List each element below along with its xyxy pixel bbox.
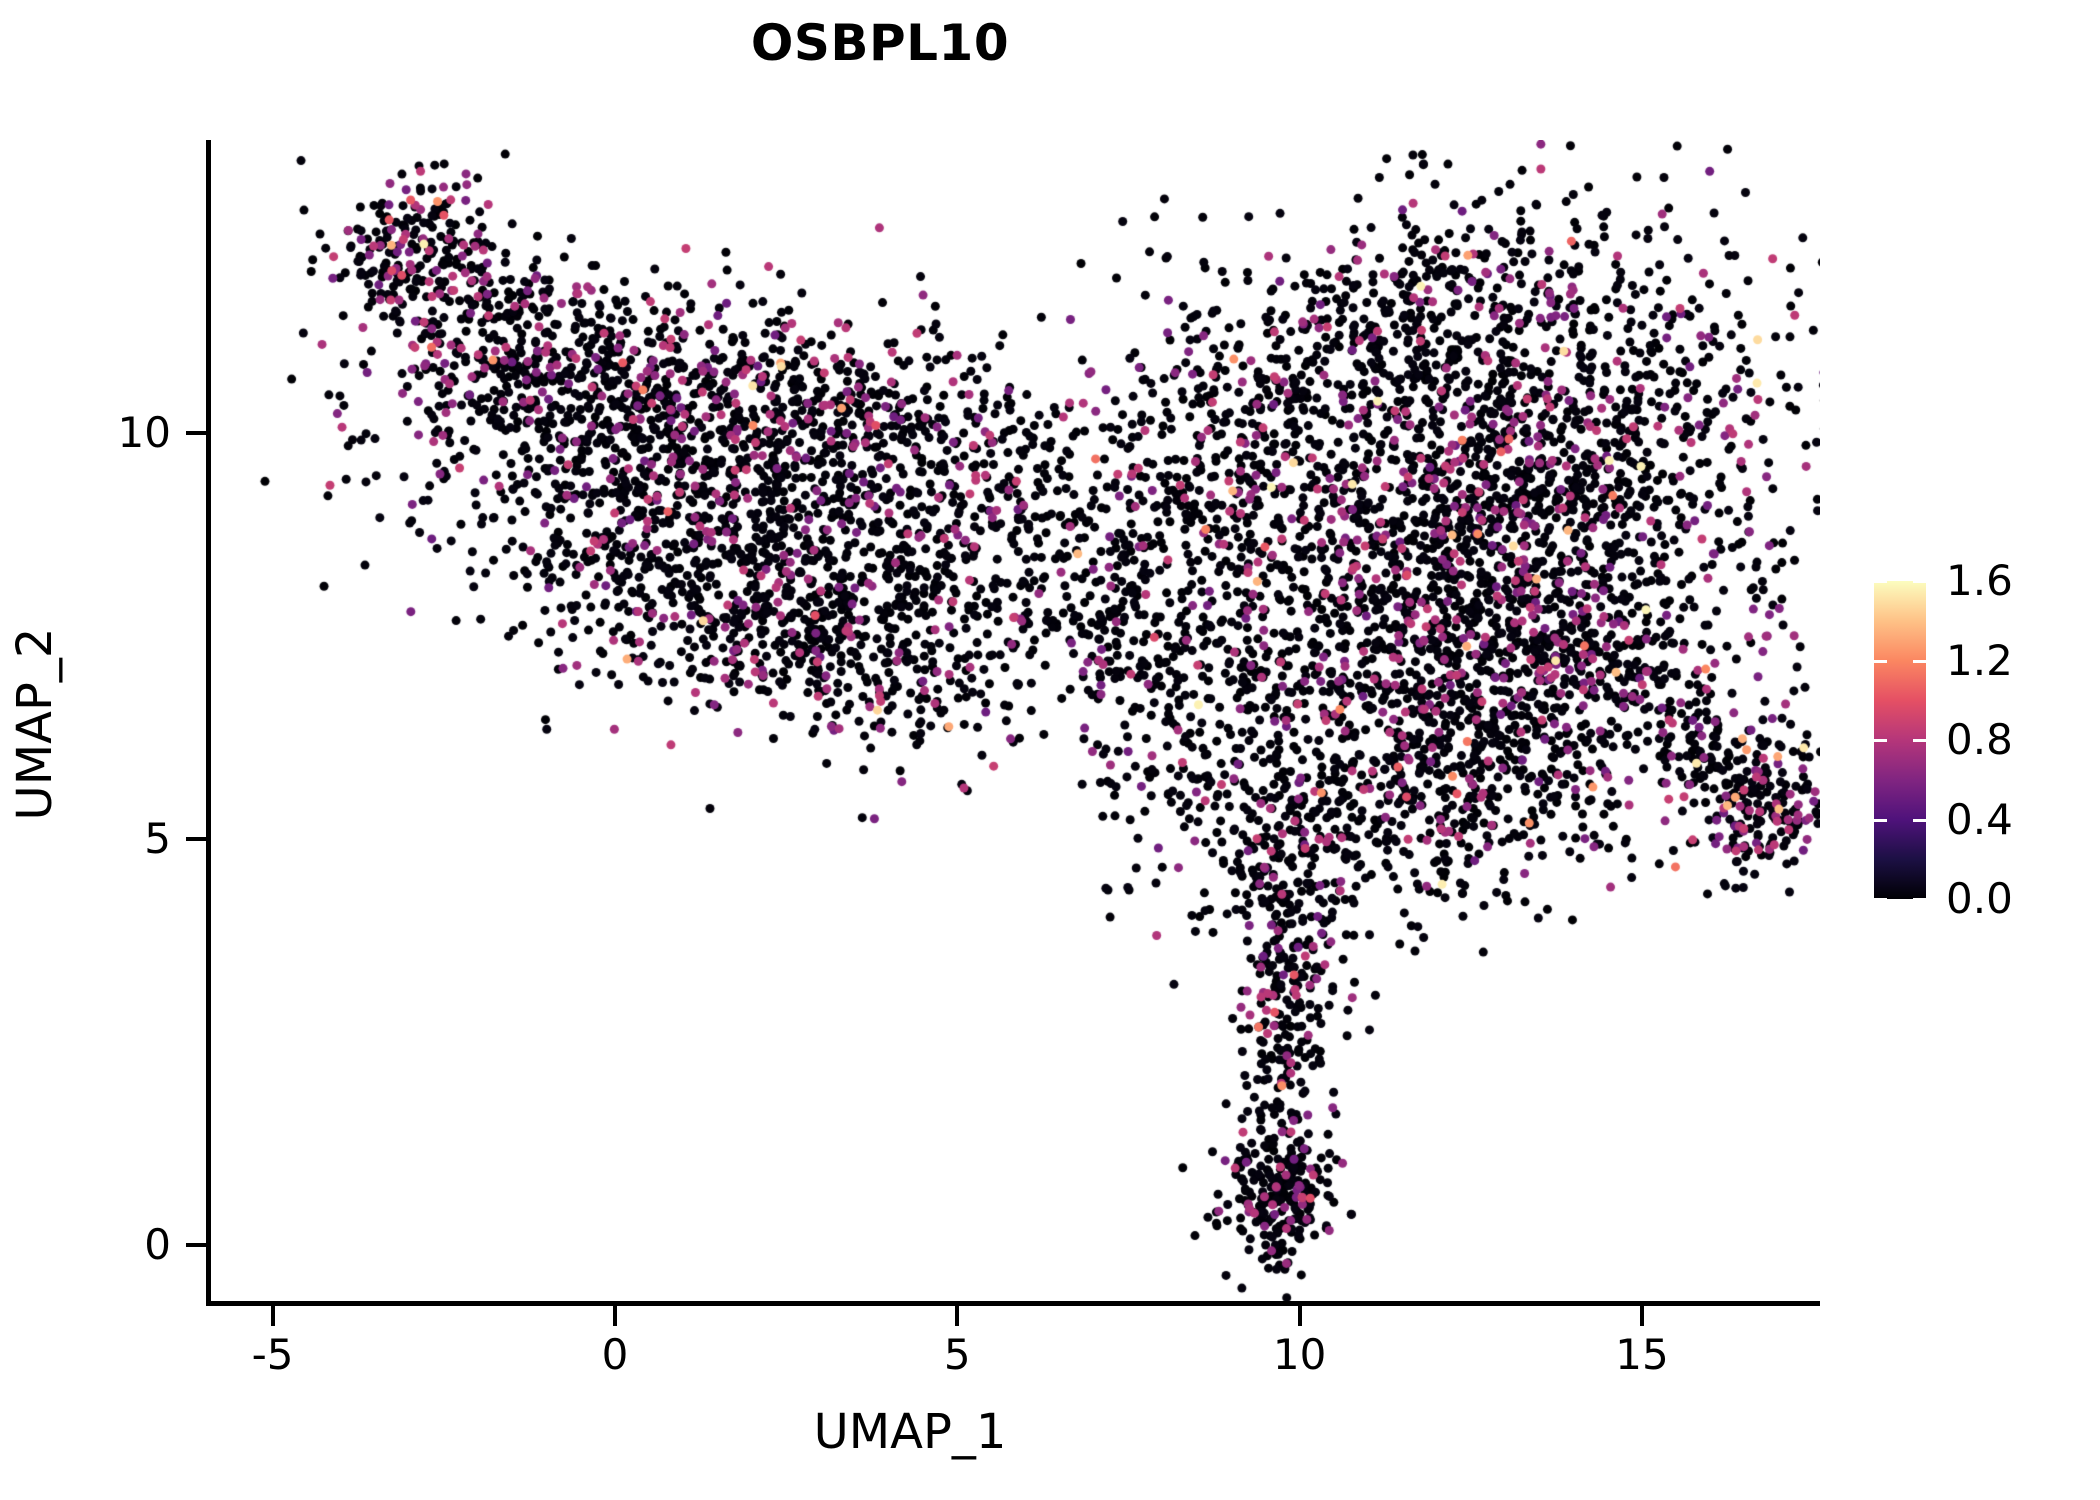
y-axis-label: UMAP_2 xyxy=(11,414,59,1034)
colorbar-tick-mark xyxy=(1874,898,1887,901)
colorbar-tick-label: 1.2 xyxy=(1946,640,2013,682)
y-tick-mark xyxy=(186,837,206,841)
y-tick-label: 5 xyxy=(144,818,171,860)
colorbar-tick-mark xyxy=(1874,819,1887,822)
colorbar-tick-mark xyxy=(1913,660,1926,663)
y-tick-mark xyxy=(186,431,206,435)
x-tick-mark xyxy=(271,1306,275,1326)
colorbar-tick-mark xyxy=(1913,739,1926,742)
y-tick-label: 10 xyxy=(118,412,171,454)
colorbar-tick-label: 1.6 xyxy=(1946,560,2013,602)
colorbar-tick-mark xyxy=(1874,739,1887,742)
figure-root: OSBPL10 0510 -5051015 UMAP_1 UMAP_2 1.61… xyxy=(0,0,2100,1500)
colorbar-legend: 1.61.20.80.40.0 xyxy=(1874,581,1926,899)
colorbar-tick-mark xyxy=(1913,898,1926,901)
x-axis-spine xyxy=(206,1301,1820,1306)
x-tick-mark xyxy=(613,1306,617,1326)
x-tick-label: -5 xyxy=(213,1334,333,1376)
x-tick-label: 10 xyxy=(1240,1334,1360,1376)
colorbar-tick-label: 0.8 xyxy=(1946,719,2013,761)
x-tick-label: 5 xyxy=(897,1334,1017,1376)
y-tick-mark xyxy=(186,1243,206,1247)
x-axis-label: UMAP_1 xyxy=(0,1408,1820,1456)
scatter-points-canvas xyxy=(211,140,1820,1306)
colorbar-tick-label: 0.4 xyxy=(1946,799,2013,841)
y-axis-spine xyxy=(206,140,211,1306)
colorbar-tick-mark xyxy=(1913,819,1926,822)
colorbar-tick-mark xyxy=(1913,580,1926,583)
x-tick-label: 0 xyxy=(555,1334,675,1376)
colorbar-tick-label: 0.0 xyxy=(1946,878,2013,920)
colorbar-tick-mark xyxy=(1874,580,1887,583)
colorbar-tick-mark xyxy=(1874,660,1887,663)
x-tick-mark xyxy=(1640,1306,1644,1326)
colorbar-gradient xyxy=(1874,581,1926,899)
x-tick-mark xyxy=(1298,1306,1302,1326)
x-tick-mark xyxy=(955,1306,959,1326)
scatter-plot-area xyxy=(211,140,1820,1306)
y-tick-label: 0 xyxy=(144,1224,171,1266)
page-title: OSBPL10 xyxy=(0,18,1760,68)
x-tick-label: 15 xyxy=(1582,1334,1702,1376)
